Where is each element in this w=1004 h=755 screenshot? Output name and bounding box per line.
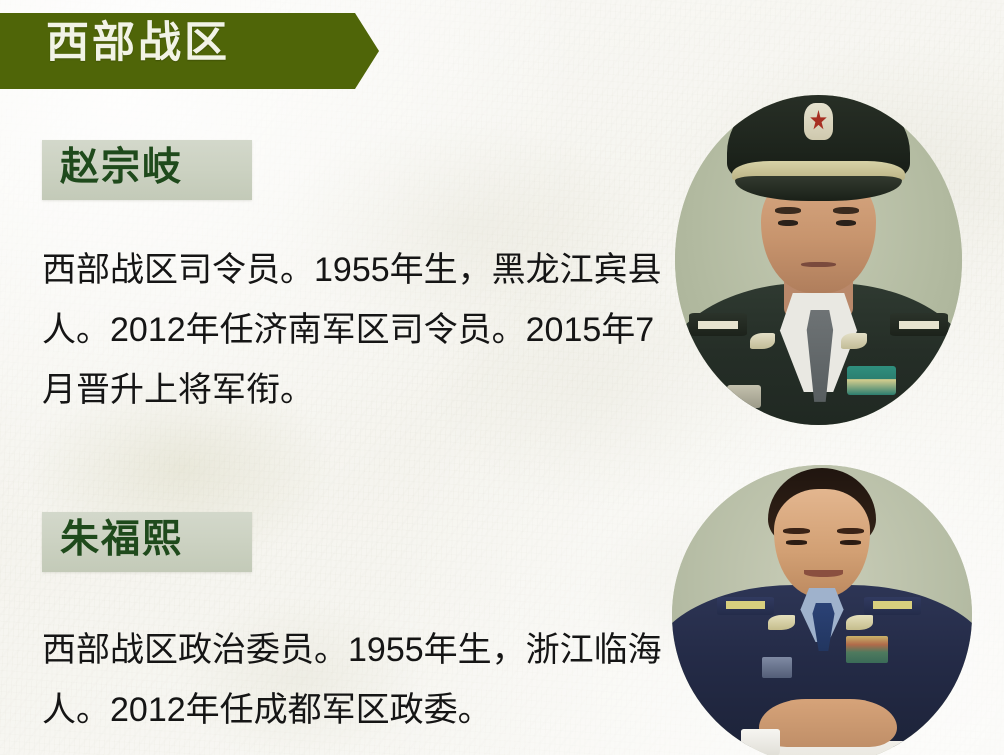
eyebrow-right xyxy=(833,207,859,214)
officer-bio-1: 西部战区司令员。1955年生，黑龙江宾县人。2012年任济南军区司令员。2015… xyxy=(42,240,667,420)
eyebrow-left xyxy=(783,528,810,534)
section-title: 西部战区 xyxy=(46,22,230,65)
officer-name-band-1: 赵宗岐 xyxy=(42,140,252,200)
officer-portrait-1 xyxy=(675,95,962,425)
rank-stars-left xyxy=(726,601,765,609)
teacup xyxy=(741,729,780,755)
mouth xyxy=(801,262,835,267)
rank-stars-right xyxy=(899,321,939,329)
service-ribbon xyxy=(847,366,896,396)
rank-stars-left xyxy=(698,321,738,329)
officer-bio-2: 西部战区政治委员。1955年生，浙江临海人。2012年任成都军区政委。 xyxy=(42,620,667,740)
officer-name-band-2: 朱福熙 xyxy=(42,512,252,572)
collar-wing-insignia-right xyxy=(846,615,873,630)
eye-left xyxy=(786,540,807,545)
rank-stars-right xyxy=(873,601,912,609)
chest-badge xyxy=(727,385,761,408)
officer-portrait-2 xyxy=(672,465,972,755)
infographic-page: 西部战区 赵宗岐 西部战区司令员。1955年生，黑龙江宾县人。2012年任济南军… xyxy=(0,0,1004,755)
eye-right xyxy=(836,220,856,226)
eye-right xyxy=(840,540,861,545)
officer-name-2: 朱福熙 xyxy=(60,520,183,559)
eyebrow-right xyxy=(837,528,864,534)
chest-patch xyxy=(762,657,792,678)
service-ribbons xyxy=(846,636,888,663)
officer-name-1: 赵宗岐 xyxy=(60,148,183,187)
collar-wing-insignia-left xyxy=(768,615,795,630)
